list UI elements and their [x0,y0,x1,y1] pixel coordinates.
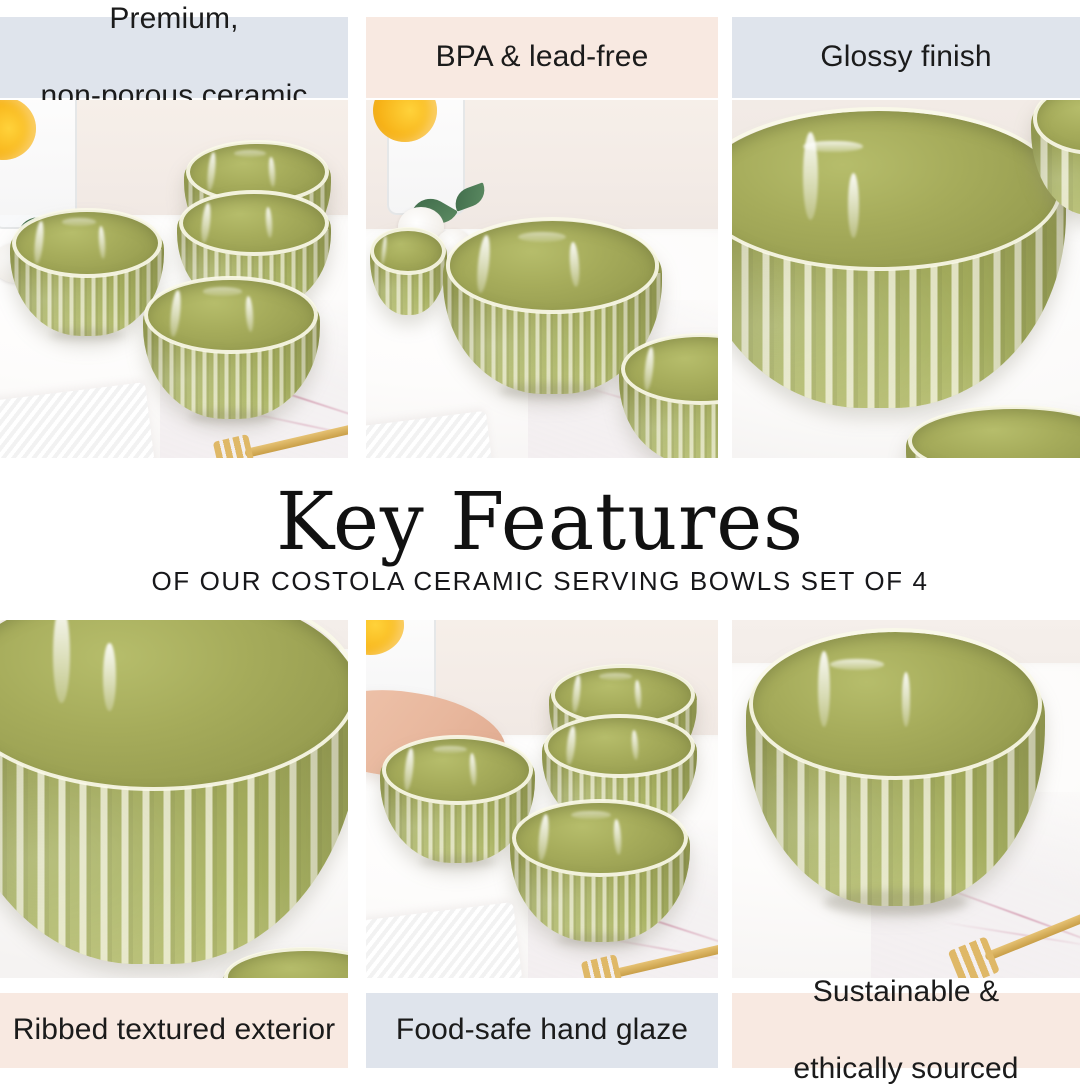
photo-bottom-middle [366,620,718,978]
glaze-highlight [53,620,70,703]
photo-scene [0,100,348,458]
glaze-highlight [830,659,884,670]
photo-top-middle [366,100,718,458]
ceramic-bowl [906,408,1080,458]
feature-label-line2: ethically sourced [787,1050,1024,1088]
photo-top-left [0,100,348,458]
feature-label-line1: Premium, [35,0,314,38]
page-title: Key Features [276,482,804,562]
drink-glass [387,100,464,215]
lemon-slice [0,100,36,160]
lemon-slice [366,620,404,655]
photo-bottom-right [732,620,1080,978]
feature-label-line1: Glossy finish [814,38,997,76]
photo-bottom-left [0,620,348,978]
feature-chip-ribbed-texture: Ribbed textured exterior [0,993,348,1068]
glaze-highlight [103,643,116,710]
feature-chip-food-safe-glaze: Food-safe hand glaze [366,993,718,1068]
page-subtitle: OF OUR COSTOLA CERAMIC SERVING BOWLS SET… [151,566,928,597]
ceramic-bowl-texture-closeup [0,620,348,964]
photo-top-right [732,100,1080,458]
feature-chip-sustainable: Sustainable & ethically sourced [732,993,1080,1068]
feature-label-line1: Food-safe hand glaze [390,1011,694,1049]
glaze-highlight [818,651,830,727]
ceramic-bowl-closeup [732,114,1066,408]
ceramic-bowl [510,803,690,943]
key-features-heading-block: Key Features OF OUR COSTOLA CERAMIC SERV… [0,458,1080,620]
feature-chip-glossy-finish: Glossy finish [732,17,1080,98]
ceramic-bowl [10,211,163,336]
ceramic-bowl [143,279,320,419]
photo-scene [732,100,1080,458]
photo-scene [366,620,718,978]
photo-scene [0,620,348,978]
feature-label-line1: BPA & lead-free [430,38,655,76]
feature-label-line1: Ribbed textured exterior [7,1011,342,1049]
feature-label-line1: Sustainable & [787,973,1024,1011]
infographic-canvas: Premium, non-porous ceramic BPA & lead-f… [0,0,1080,1080]
feature-chip-bpa-lead-free: BPA & lead-free [366,17,718,98]
ceramic-bowl [223,949,348,978]
photo-scene [732,620,1080,978]
ceramic-bowl [619,336,718,458]
ceramic-bowl [1031,100,1080,215]
feature-chip-premium-ceramic: Premium, non-porous ceramic [0,17,348,98]
ceramic-bowl-closeup [746,634,1045,906]
ceramic-bowl [370,229,447,315]
photo-scene [366,100,718,458]
